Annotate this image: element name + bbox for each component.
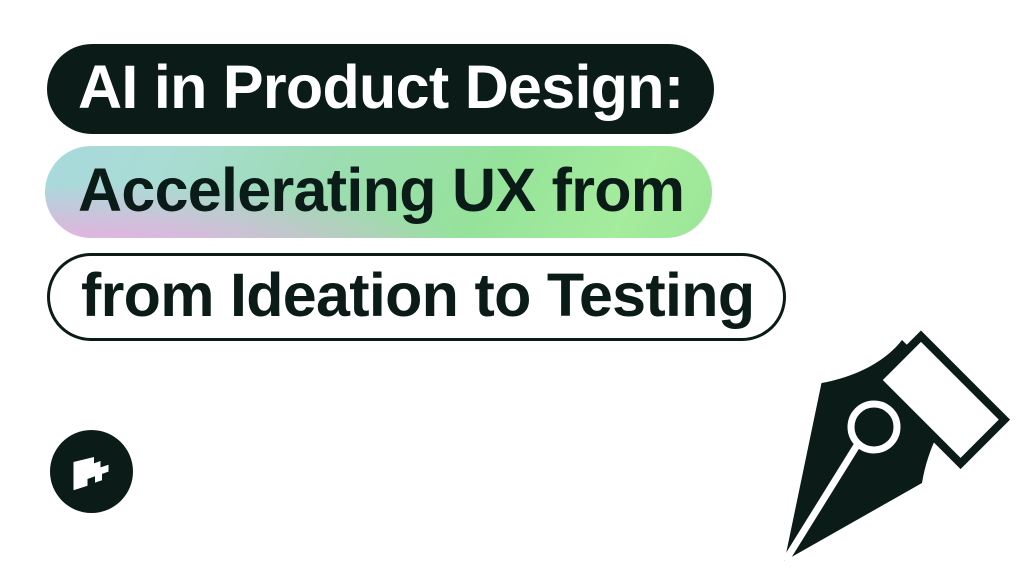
headline-line-3: from Ideation to Testing xyxy=(47,253,786,341)
pen-nib-icon xyxy=(778,315,1024,565)
pen-nib-hole xyxy=(851,404,897,450)
headline-line-2-text: Accelerating UX from xyxy=(78,160,684,221)
headline-line-3-text: from Ideation to Testing xyxy=(81,265,754,326)
headline-line-2: Accelerating UX from xyxy=(45,146,712,238)
headline-line-1-text: AI in Product Design: xyxy=(78,57,684,118)
brand-mark-icon[interactable] xyxy=(50,430,133,513)
headline-line-1: AI in Product Design: xyxy=(47,44,714,134)
poster-canvas: AI in Product Design: Accelerating UX fr… xyxy=(0,0,1024,576)
